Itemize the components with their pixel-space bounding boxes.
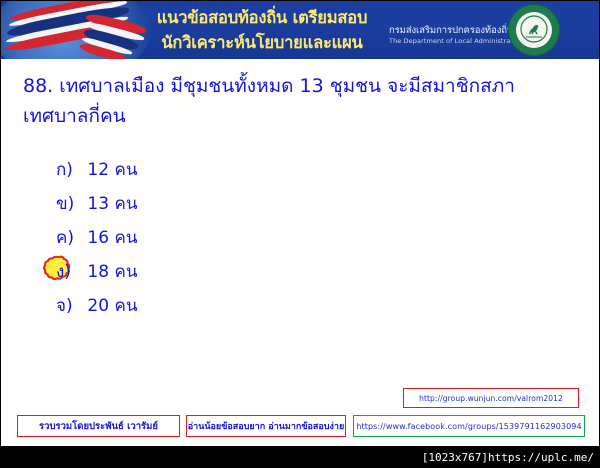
credit-box: รวบรวมโดยประพันธ์ เวารัมย์ bbox=[17, 415, 180, 437]
motto-text: อ่านน้อยข้อสอบยาก อ่านมากข้อสอบง่าย bbox=[188, 419, 344, 433]
credit-text: รวบรวมโดยประพันธ์ เวารัมย์ bbox=[39, 419, 158, 434]
header-title-line2: นักวิเคราะห์นโยบายและแผน bbox=[131, 30, 393, 55]
answer-choice-1-letter: ก) bbox=[56, 153, 82, 187]
screenshot-root: แนวข้อสอบท้องถิ่น เตรียมสอบ นักวิเคราะห์… bbox=[0, 0, 600, 468]
header-title-group: แนวข้อสอบท้องถิ่น เตรียมสอบ นักวิเคราะห์… bbox=[131, 5, 393, 55]
answer-choice-4[interactable]: ง) 18 คน bbox=[56, 255, 356, 289]
slide-content: แนวข้อสอบท้องถิ่น เตรียมสอบ นักวิเคราะห์… bbox=[0, 0, 600, 447]
department-name-thai: กรมส่งเสริมการปกครองท้องถิ่น bbox=[389, 25, 511, 37]
department-name-group: กรมส่งเสริมการปกครองท้องถิ่น The Departm… bbox=[389, 25, 511, 46]
status-bar: [1023x767]https://uplc.me/ bbox=[0, 447, 600, 468]
group-link-box[interactable]: http://group.wunjun.com/valrom2012 bbox=[403, 388, 579, 408]
answer-choice-3-text: 16 คน bbox=[87, 221, 137, 255]
answer-choice-5[interactable]: จ) 20 คน bbox=[56, 289, 356, 323]
facebook-link-box[interactable]: https://www.facebook.com/groups/15397911… bbox=[353, 415, 585, 437]
header-title-line1: แนวข้อสอบท้องถิ่น เตรียมสอบ bbox=[131, 5, 393, 30]
status-bar-text: [1023x767]https://uplc.me/ bbox=[422, 451, 594, 464]
motto-box: อ่านน้อยข้อสอบยาก อ่านมากข้อสอบง่าย bbox=[186, 415, 346, 437]
department-name-english: The Department of Local Administration bbox=[389, 37, 511, 46]
seal-emblem-icon bbox=[520, 15, 548, 43]
facebook-link-text: https://www.facebook.com/groups/15397911… bbox=[356, 422, 581, 431]
department-seal-icon bbox=[508, 4, 560, 56]
header-banner: แนวข้อสอบท้องถิ่น เตรียมสอบ นักวิเคราะห์… bbox=[1, 1, 599, 59]
answer-choice-list: ก) 12 คน ข) 13 คน ค) 16 คน ง) 18 คน จ) bbox=[56, 153, 356, 323]
answer-choice-4-letter: ง) bbox=[56, 255, 82, 289]
answer-choice-2-letter: ข) bbox=[56, 187, 82, 221]
answer-choice-3-letter: ค) bbox=[56, 221, 82, 255]
question-text: 88. เทศบาลเมือง มีชุมชนทั้งหมด 13 ชุมชน … bbox=[23, 71, 579, 131]
answer-choice-1[interactable]: ก) 12 คน bbox=[56, 153, 356, 187]
answer-choice-3[interactable]: ค) 16 คน bbox=[56, 221, 356, 255]
answer-choice-1-text: 12 คน bbox=[87, 153, 137, 187]
answer-choice-5-text: 20 คน bbox=[87, 289, 137, 323]
group-link-text: http://group.wunjun.com/valrom2012 bbox=[419, 394, 563, 403]
answer-choice-2[interactable]: ข) 13 คน bbox=[56, 187, 356, 221]
answer-choice-2-text: 13 คน bbox=[87, 187, 137, 221]
answer-choice-4-text: 18 คน bbox=[87, 255, 137, 289]
answer-choice-5-letter: จ) bbox=[56, 289, 82, 323]
